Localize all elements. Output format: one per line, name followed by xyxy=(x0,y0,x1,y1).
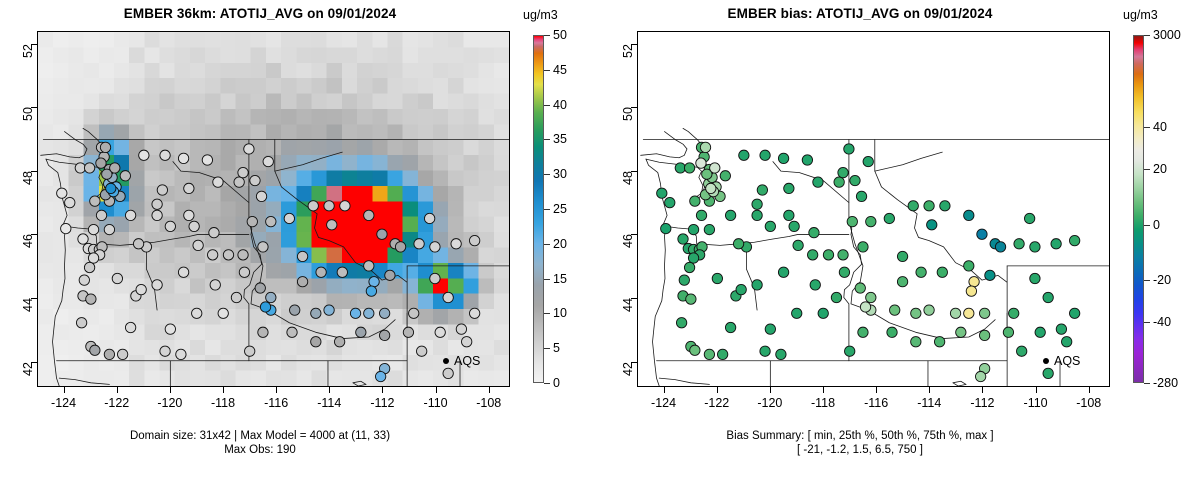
model-caption-line2: Max Obs: 190 xyxy=(0,443,520,457)
y-tick-label: 48 xyxy=(621,171,635,185)
colorbar-tick xyxy=(1144,322,1150,323)
panel-model: EMBER 36km: ATOTIJ_AVG on 09/01/2024 AQS xyxy=(0,0,600,479)
colorbar-tick xyxy=(1144,280,1150,281)
bias-colorbar-ticks: -280-40-20020403000 xyxy=(1144,35,1200,383)
x-tick xyxy=(982,387,983,393)
x-tick-label: -120 xyxy=(157,396,182,410)
colorbar-tick xyxy=(544,174,550,175)
colorbar-tick-label: 0 xyxy=(553,376,560,390)
colorbar-tick-label: 0 xyxy=(1153,218,1160,232)
x-tick-label: -112 xyxy=(370,396,394,410)
y-tick-label: 50 xyxy=(621,107,635,121)
x-tick-label: -118 xyxy=(211,396,235,410)
y-tick-label: 50 xyxy=(21,107,35,121)
x-tick xyxy=(117,387,118,393)
panel-bias-title: EMBER bias: ATOTIJ_AVG on 09/01/2024 xyxy=(600,6,1120,21)
panel-bias: EMBER bias: ATOTIJ_AVG on 09/01/2024 AQS… xyxy=(600,0,1200,479)
bias-aqs-legend: AQS xyxy=(1043,354,1080,368)
x-tick-label: -124 xyxy=(651,396,676,410)
x-tick-label: -108 xyxy=(476,396,501,410)
model-y-axis: 424446485052 xyxy=(0,31,37,387)
colorbar-tick xyxy=(1144,35,1150,36)
y-tick-label: 46 xyxy=(621,234,635,248)
colorbar-tick-label: 5 xyxy=(553,341,560,355)
bias-caption-line1: Bias Summary: [ min, 25th %, 50th %, 75t… xyxy=(600,429,1120,443)
colorbar-tick-label: 25 xyxy=(553,202,567,216)
x-tick xyxy=(823,387,824,393)
x-tick xyxy=(436,387,437,393)
bias-aqs-legend-label: AQS xyxy=(1054,354,1080,368)
y-tick-label: 52 xyxy=(21,44,35,58)
x-tick xyxy=(382,387,383,393)
colorbar-tick-label: 3000 xyxy=(1153,28,1181,42)
y-tick-label: 52 xyxy=(621,44,635,58)
y-tick-label: 48 xyxy=(21,171,35,185)
x-tick xyxy=(770,387,771,393)
model-x-axis: -124-122-120-118-116-114-112-110-108 xyxy=(37,387,510,427)
model-caption-line1: Domain size: 31x42 | Max Model = 4000 at… xyxy=(0,429,520,443)
x-tick xyxy=(170,387,171,393)
bias-colorbar-unit: ug/m3 xyxy=(1123,8,1158,22)
colorbar-tick xyxy=(544,279,550,280)
x-tick xyxy=(876,387,877,393)
colorbar-tick-label: 45 xyxy=(553,63,567,77)
colorbar-tick xyxy=(544,105,550,106)
x-tick-label: -114 xyxy=(317,396,341,410)
x-tick-label: -122 xyxy=(704,396,729,410)
colorbar-tick xyxy=(544,244,550,245)
y-tick-label: 46 xyxy=(21,234,35,248)
x-tick-label: -116 xyxy=(864,396,888,410)
figure: EMBER 36km: ATOTIJ_AVG on 09/01/2024 AQS xyxy=(0,0,1200,479)
aqs-dot-icon xyxy=(443,358,449,364)
model-colorbar: ug/m3 05101520253035404550 xyxy=(520,31,610,391)
x-tick-label: -124 xyxy=(51,396,76,410)
model-colorbar-unit: ug/m3 xyxy=(523,8,558,22)
x-tick xyxy=(276,387,277,393)
model-aqs-legend: AQS xyxy=(443,354,480,368)
x-tick-label: -118 xyxy=(811,396,835,410)
colorbar-tick xyxy=(544,35,550,36)
colorbar-tick xyxy=(544,313,550,314)
bias-caption: Bias Summary: [ min, 25th %, 50th %, 75t… xyxy=(600,429,1120,457)
bias-x-axis: -124-122-120-118-116-114-112-110-108 xyxy=(637,387,1110,427)
y-tick-label: 42 xyxy=(21,362,35,376)
x-tick xyxy=(64,387,65,393)
x-tick xyxy=(717,387,718,393)
colorbar-tick xyxy=(544,348,550,349)
colorbar-tick-label: -20 xyxy=(1153,273,1171,287)
x-tick-label: -120 xyxy=(757,396,782,410)
model-obs-markers xyxy=(38,32,509,386)
y-tick-label: 44 xyxy=(621,298,635,312)
colorbar-tick-label: 40 xyxy=(1153,120,1167,134)
colorbar-tick-label: 20 xyxy=(1153,162,1167,176)
colorbar-tick-label: 40 xyxy=(553,98,567,112)
bias-colorbar-gradient xyxy=(1133,35,1144,383)
bias-map-plot[interactable]: AQS xyxy=(637,31,1110,387)
model-map-plot[interactable]: AQS xyxy=(37,31,510,387)
x-tick xyxy=(1036,387,1037,393)
x-tick xyxy=(223,387,224,393)
bias-y-axis: 424446485052 xyxy=(600,31,637,387)
colorbar-tick-label: -40 xyxy=(1153,315,1171,329)
x-tick-label: -108 xyxy=(1076,396,1101,410)
colorbar-tick-label: -280 xyxy=(1153,376,1178,390)
colorbar-tick xyxy=(1144,127,1150,128)
colorbar-tick xyxy=(1144,225,1150,226)
model-aqs-legend-label: AQS xyxy=(454,354,480,368)
x-tick-label: -110 xyxy=(424,396,448,410)
x-tick xyxy=(329,387,330,393)
x-tick xyxy=(929,387,930,393)
model-caption: Domain size: 31x42 | Max Model = 4000 at… xyxy=(0,429,520,457)
panel-model-title: EMBER 36km: ATOTIJ_AVG on 09/01/2024 xyxy=(0,6,520,21)
colorbar-tick xyxy=(544,70,550,71)
colorbar-tick-label: 30 xyxy=(553,167,567,181)
x-tick-label: -122 xyxy=(104,396,129,410)
colorbar-tick xyxy=(1144,169,1150,170)
x-tick-label: -110 xyxy=(1024,396,1048,410)
y-tick-label: 44 xyxy=(21,298,35,312)
colorbar-tick-label: 15 xyxy=(553,272,567,286)
x-tick-label: -112 xyxy=(970,396,994,410)
colorbar-tick xyxy=(1144,383,1150,384)
bias-obs-markers xyxy=(638,32,1109,386)
bias-colorbar: ug/m3 -280-40-20020403000 xyxy=(1120,31,1200,391)
x-tick-label: -116 xyxy=(264,396,288,410)
colorbar-tick-label: 10 xyxy=(553,306,567,320)
colorbar-tick xyxy=(544,139,550,140)
colorbar-tick-label: 35 xyxy=(553,132,567,146)
x-tick xyxy=(664,387,665,393)
colorbar-tick xyxy=(544,209,550,210)
x-tick xyxy=(1089,387,1090,393)
colorbar-tick xyxy=(544,383,550,384)
x-tick xyxy=(489,387,490,393)
x-tick-label: -114 xyxy=(917,396,941,410)
model-colorbar-gradient xyxy=(533,35,544,383)
y-tick-label: 42 xyxy=(621,362,635,376)
aqs-dot-icon xyxy=(1043,358,1049,364)
bias-caption-line2: [ -21, -1.2, 1.5, 6.5, 750 ] xyxy=(600,443,1120,457)
colorbar-tick-label: 20 xyxy=(553,237,567,251)
colorbar-tick-label: 50 xyxy=(553,28,567,42)
